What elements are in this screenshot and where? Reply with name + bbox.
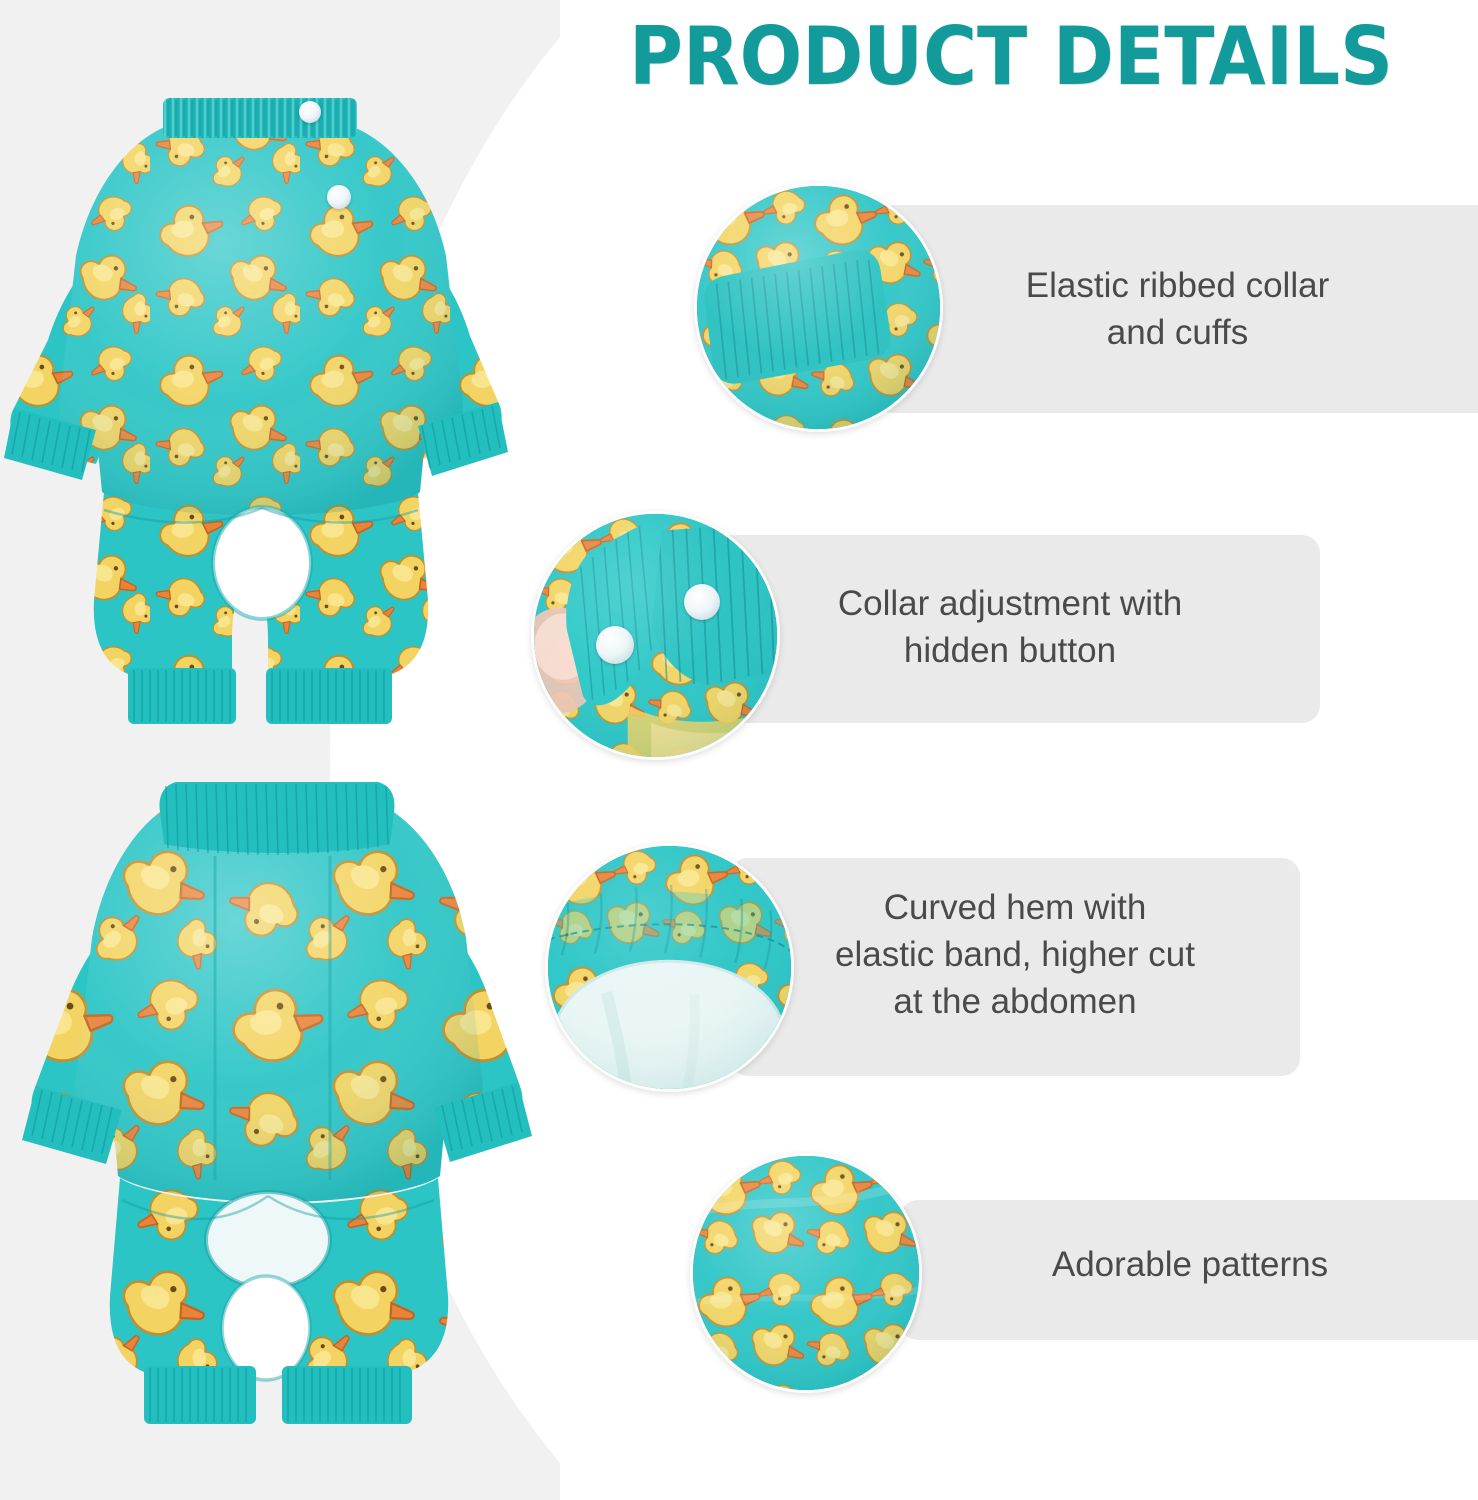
feature-label-3: Curved hem with elastic band, higher cut…	[755, 884, 1275, 1025]
feature-label-1: Elastic ribbed collar and cuffs	[905, 262, 1450, 356]
feature-photo-3-curved-hem	[545, 843, 794, 1092]
fabric-background-1	[697, 186, 940, 429]
product-photo-back-view	[0, 40, 520, 760]
infographic-canvas: PRODUCT DETAILS	[0, 0, 1478, 1500]
product-photo-front-view	[10, 760, 540, 1460]
fabric-background-4	[693, 1156, 919, 1390]
feature-photo-2-hidden-button	[531, 511, 780, 760]
page-title: PRODUCT DETAILS	[629, 14, 1457, 100]
feature-photo-1-ribbed-cuff	[694, 183, 943, 432]
fabric-background-3	[548, 846, 791, 1089]
fabric-background-2	[534, 514, 777, 757]
feature-label-4: Adorable patterns	[920, 1241, 1460, 1288]
feature-photo-4-duck-pattern	[690, 1153, 922, 1393]
feature-label-2: Collar adjustment with hidden button	[730, 580, 1290, 674]
snap-button-left	[596, 626, 634, 664]
snap-button-collar-lower	[327, 185, 351, 209]
snap-button-right	[684, 584, 720, 620]
snap-button-collar-top	[299, 101, 321, 123]
